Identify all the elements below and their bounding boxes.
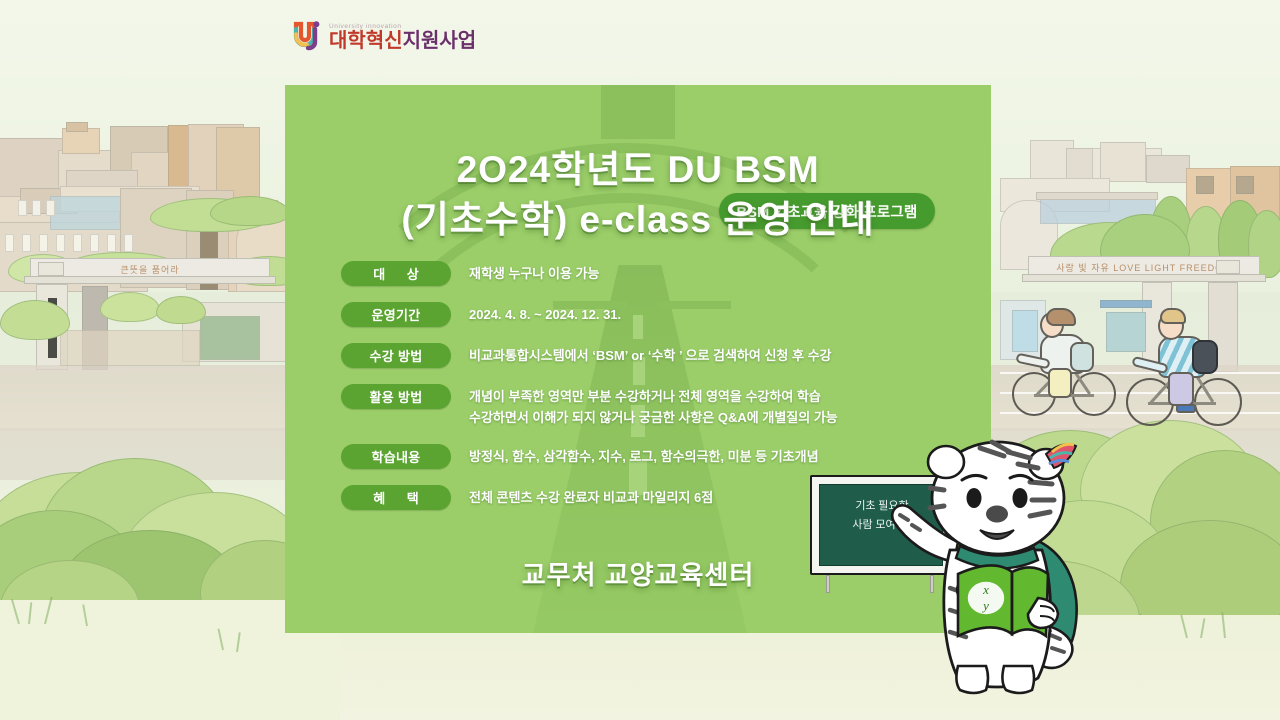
backpack xyxy=(1192,340,1218,374)
window xyxy=(5,234,14,252)
logo-korean-text: 대학혁신지원사업 xyxy=(329,31,476,51)
info-row-label-pill: 활용 방법 xyxy=(341,384,451,409)
u-logo-mark-icon xyxy=(293,20,323,52)
window xyxy=(32,200,41,216)
rider-leg xyxy=(1168,372,1194,406)
building xyxy=(1100,142,1146,182)
white-tiger-mascot: x y xyxy=(888,438,1118,698)
window xyxy=(56,234,65,252)
info-row-value: 개념이 부족한 영역만 부분 수강하거나 전체 영역을 수강하여 학습 수강하면… xyxy=(469,384,981,428)
info-row-label-pill: 운영기간 xyxy=(341,302,451,327)
cyclist-right xyxy=(1124,300,1254,440)
building xyxy=(200,316,260,360)
left-gate-sign-text: 큰뜻을 품어라 xyxy=(120,263,179,276)
info-row-value-line1: 2024. 4. 8. ~ 2024. 12. 31. xyxy=(469,307,621,322)
info-row-value-line2: 수강하면서 이해가 되지 않거나 궁금한 사항은 Q&A에 개별질의 가능 xyxy=(469,407,981,428)
info-row-label: 수강 방법 xyxy=(370,346,423,365)
window xyxy=(90,234,99,252)
bicycle-pedal xyxy=(1176,404,1196,413)
info-row-curriculum: 학습내용 방정식, 함수, 삼각함수, 지수, 로그, 함수의극한, 미분 등 … xyxy=(341,444,981,469)
info-row-label: 운영기간 xyxy=(371,305,420,324)
info-row-label-pill: 학습내용 xyxy=(341,444,451,469)
poster-title: 2O24학년도 DU BSM (기초수학) e-class 운영 안내 xyxy=(285,145,991,245)
logo-english-tagline: University innovation xyxy=(329,23,476,30)
bush xyxy=(156,296,206,324)
poster-title-line1: 2O24학년도 DU BSM xyxy=(285,145,991,195)
svg-text:x: x xyxy=(982,582,989,597)
info-row-value-line1: 비교과통합시스템에서 ‘BSM’ or ‘수학 ’ 으로 검색하여 신청 후 수… xyxy=(469,348,832,363)
info-row-value: 비교과통합시스템에서 ‘BSM’ or ‘수학 ’ 으로 검색하여 신청 후 수… xyxy=(469,343,981,366)
window xyxy=(107,234,116,252)
poster-footer-text: 교무처 교양교육센터 xyxy=(522,560,755,590)
info-row-label-pill: 수강 방법 xyxy=(341,343,451,368)
info-row-usage-method: 활용 방법 개념이 부족한 영역만 부분 수강하거나 전체 영역을 수강하여 학… xyxy=(341,384,981,428)
window xyxy=(73,234,82,252)
university-innovation-logo: University innovation 대학혁신지원사업 xyxy=(293,18,476,52)
info-row-period: 운영기간 2024. 4. 8. ~ 2024. 12. 31. xyxy=(341,302,981,327)
info-row-value-line1: 전체 콘텐츠 수강 완료자 비교과 마일리지 6점 xyxy=(469,490,713,505)
info-row-value: 재학생 누구나 이용 가능 xyxy=(469,261,981,284)
window xyxy=(22,234,31,252)
window xyxy=(39,234,48,252)
rider-hair xyxy=(1160,308,1186,324)
info-row-label-pill: 대 상 xyxy=(341,261,451,286)
building xyxy=(1036,192,1158,200)
building xyxy=(1236,176,1254,194)
info-row-value-line1: 방정식, 함수, 삼각함수, 지수, 로그, 함수의극한, 미분 등 기초개념 xyxy=(469,449,819,464)
info-row-label: 활용 방법 xyxy=(370,387,423,406)
info-row-label: 대 상 xyxy=(364,264,428,283)
info-row-label-pill: 혜 택 xyxy=(341,485,451,510)
building xyxy=(1146,155,1190,183)
building xyxy=(66,122,88,132)
path xyxy=(60,330,200,366)
rider-hair xyxy=(1046,308,1076,326)
info-row-label: 혜 택 xyxy=(364,488,428,507)
info-rows: 대 상 재학생 누구나 이용 가능 운영기간 2024. 4. 8. ~ 202… xyxy=(341,261,981,510)
right-gate-sign-text: 사랑 빛 자유 LOVE LIGHT FREEDOM xyxy=(1056,261,1231,274)
poster-canvas: 큰뜻을 품어라 사랑 빛 자유 LOVE LIGHT FREEDOM xyxy=(0,0,1280,720)
poster-title-line2: (기초수학) e-class 운영 안내 xyxy=(285,195,991,245)
building xyxy=(1196,176,1214,194)
rider-leg xyxy=(1048,368,1072,398)
info-row-target: 대 상 재학생 누구나 이용 가능 xyxy=(341,261,981,286)
cyclist-left xyxy=(1010,300,1130,430)
info-row-value: 2024. 4. 8. ~ 2024. 12. 31. xyxy=(469,302,981,325)
info-row-label: 학습내용 xyxy=(371,447,420,466)
info-row-enrollment-method: 수강 방법 비교과통합시스템에서 ‘BSM’ or ‘수학 ’ 으로 검색하여 … xyxy=(341,343,981,368)
bush xyxy=(0,300,70,340)
info-row-value-line1: 재학생 누구나 이용 가능 xyxy=(469,266,599,281)
backpack xyxy=(1070,342,1094,372)
info-row-value-line1: 개념이 부족한 영역만 부분 수강하거나 전체 영역을 수강하여 학습 xyxy=(469,389,821,404)
window xyxy=(18,200,27,216)
logo-korean-part2: 지원사업 xyxy=(403,30,477,52)
window xyxy=(46,200,55,216)
bush xyxy=(100,292,160,322)
tree-row xyxy=(210,196,290,226)
logo-korean-part1: 대학혁신 xyxy=(329,30,403,52)
svg-text:y: y xyxy=(981,598,989,613)
window xyxy=(124,234,133,252)
